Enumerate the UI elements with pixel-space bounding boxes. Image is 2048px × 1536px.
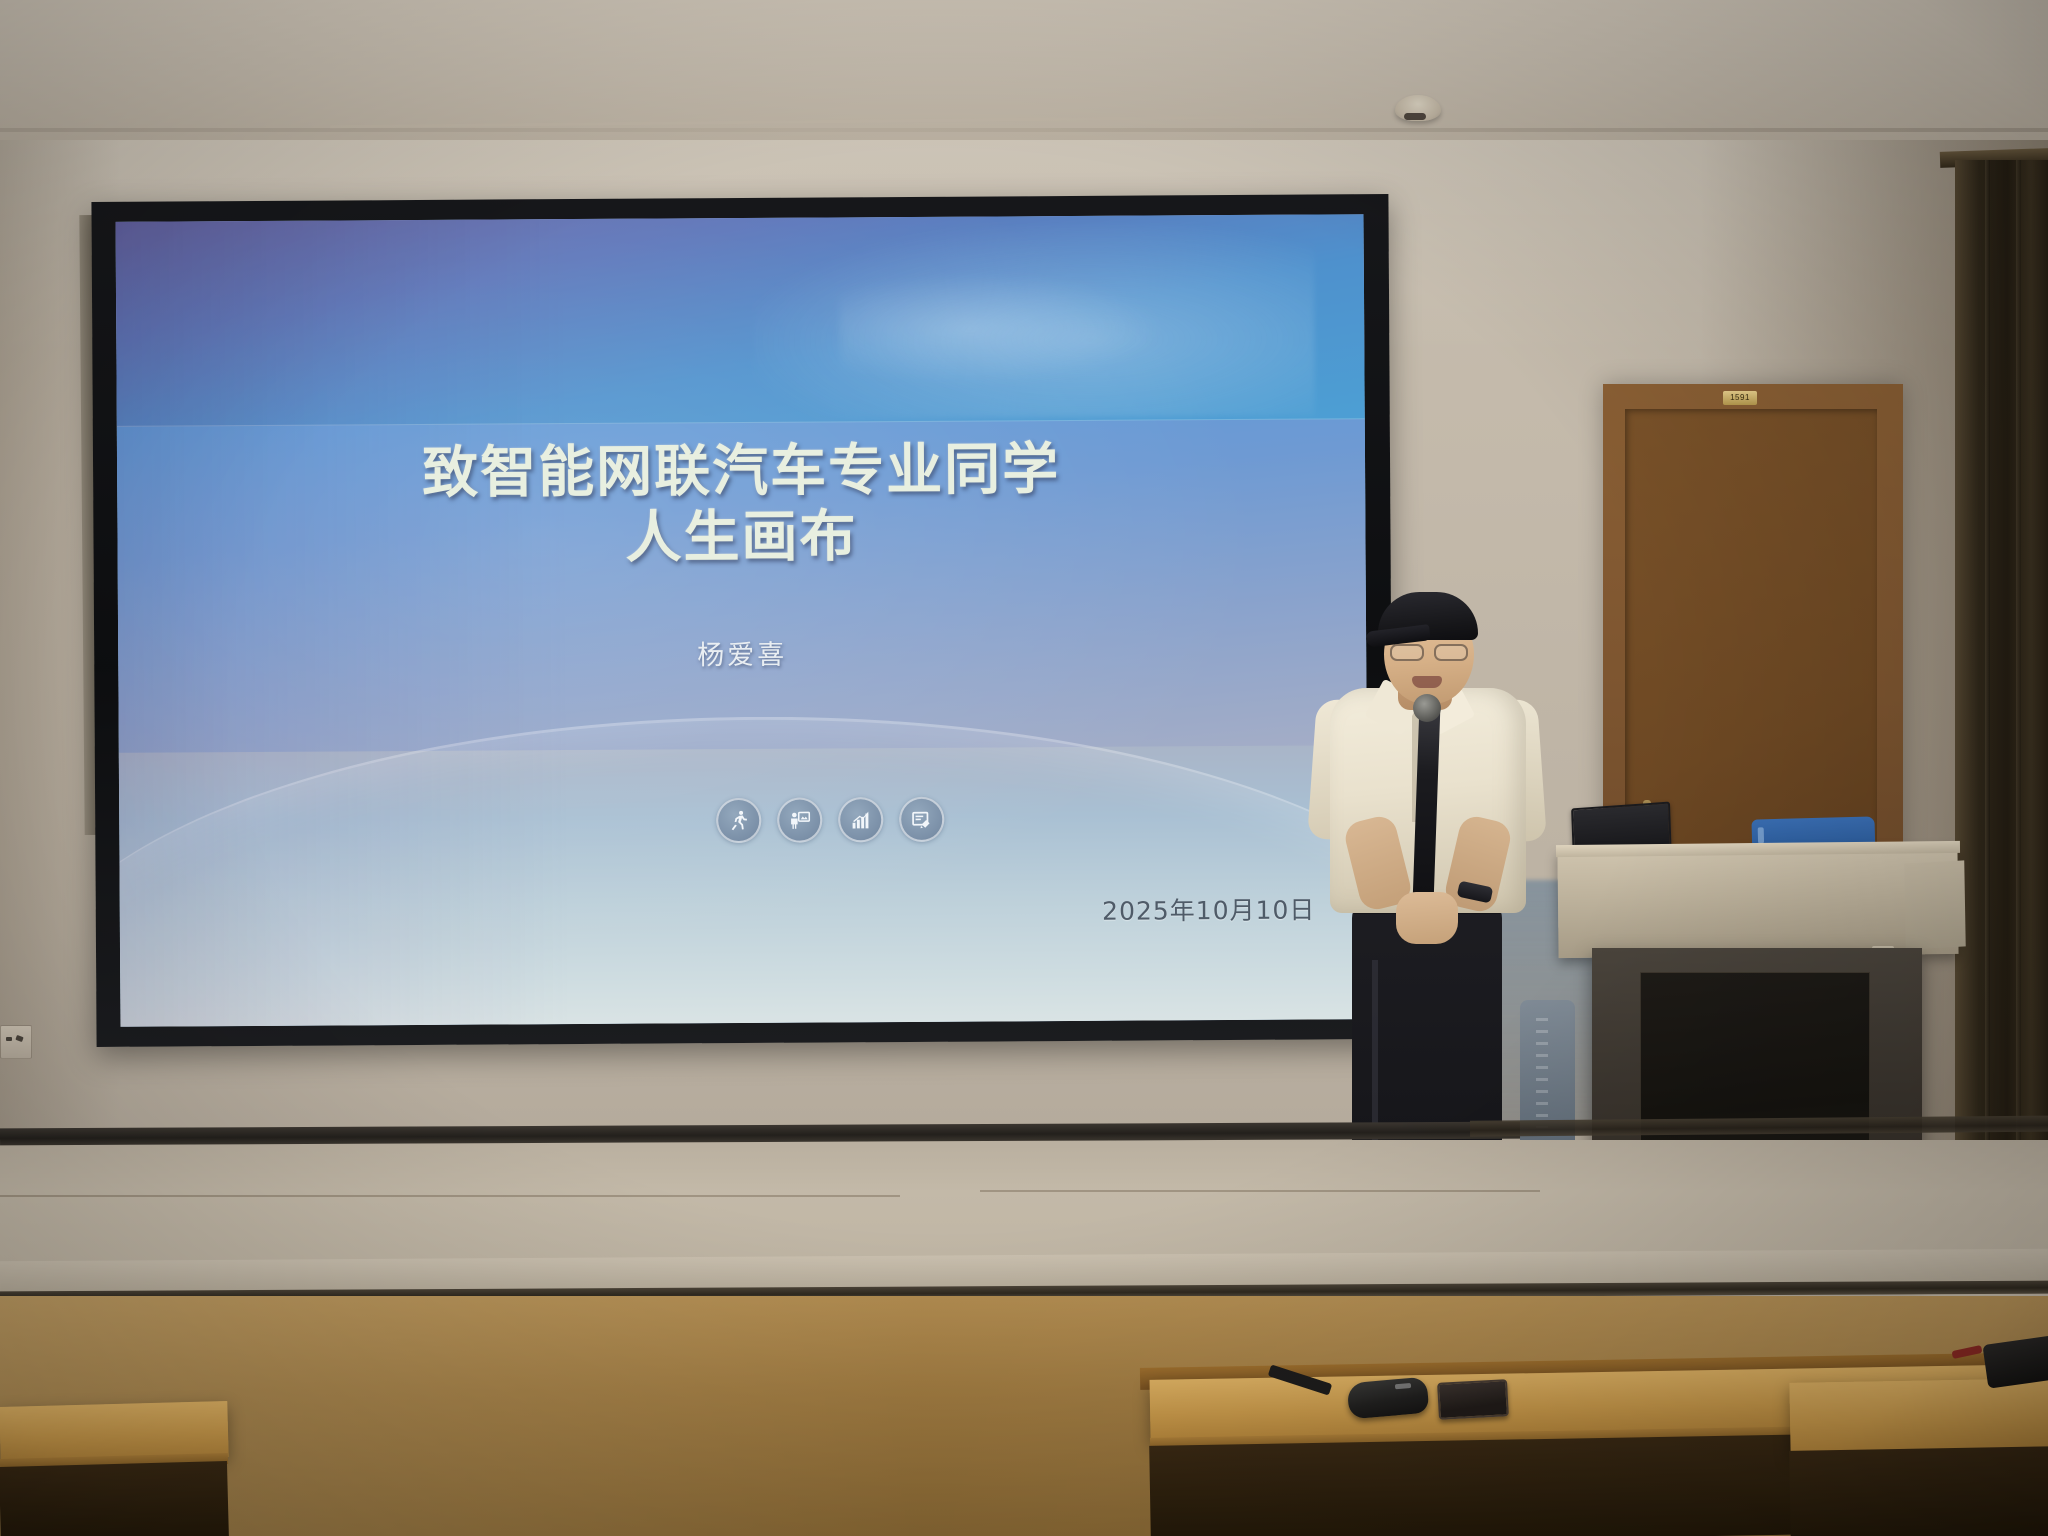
presenter-board-icon xyxy=(777,797,822,842)
stage-seam xyxy=(0,1195,900,1197)
front-desk-left-underside xyxy=(0,1461,229,1536)
black-pouch-case[interactable] xyxy=(1347,1377,1430,1420)
stage-seam xyxy=(980,1190,1540,1192)
presentation-slide: 致智能网联汽车专业同学 人生画布 杨爱喜 xyxy=(116,214,1369,1027)
front-desk-right xyxy=(1789,1377,2048,1455)
slide-title-line-1: 致智能网联汽车专业同学 xyxy=(422,437,1060,506)
presenter-hand xyxy=(1396,892,1458,944)
wall-power-outlet xyxy=(0,1025,32,1059)
slide-date: 2025年10月10日 xyxy=(1102,891,1315,928)
curtain-fold xyxy=(2016,160,2021,1160)
door-number-plate: 1591 xyxy=(1723,391,1757,405)
document-form-icon xyxy=(899,796,944,841)
lectern-top xyxy=(1557,846,1958,958)
front-desk-right-underside xyxy=(1789,1445,2048,1536)
smoke-detector-icon xyxy=(1395,95,1441,121)
slide-title: 致智能网联汽车专业同学 人生画布 xyxy=(117,436,1366,576)
slide-icon-row xyxy=(119,794,1367,847)
curtain-fold xyxy=(1985,160,1990,1160)
phone-or-tablet[interactable] xyxy=(1437,1379,1509,1420)
microphone-head xyxy=(1413,694,1441,722)
ceiling-seam xyxy=(0,128,2048,132)
slide-title-line-2: 人生画布 xyxy=(117,502,1365,576)
slide-author-name: 杨爱喜 xyxy=(118,629,1366,676)
window-curtain xyxy=(1955,160,2048,1160)
lecture-hall-scene: 1591 致智能网联汽车专业同学 人生画布 杨爱喜 xyxy=(0,0,2048,1536)
lectern-side-wing xyxy=(1904,860,1965,949)
presenter-mouth xyxy=(1412,676,1442,688)
bar-chart-growth-icon xyxy=(838,797,883,842)
glasses-icon xyxy=(1390,644,1468,658)
running-person-icon xyxy=(716,797,761,842)
projection-screen-surface: 致智能网联汽车专业同学 人生画布 杨爱喜 xyxy=(116,214,1369,1027)
projection-screen-frame: 致智能网联汽车专业同学 人生画布 杨爱喜 xyxy=(91,194,1393,1047)
